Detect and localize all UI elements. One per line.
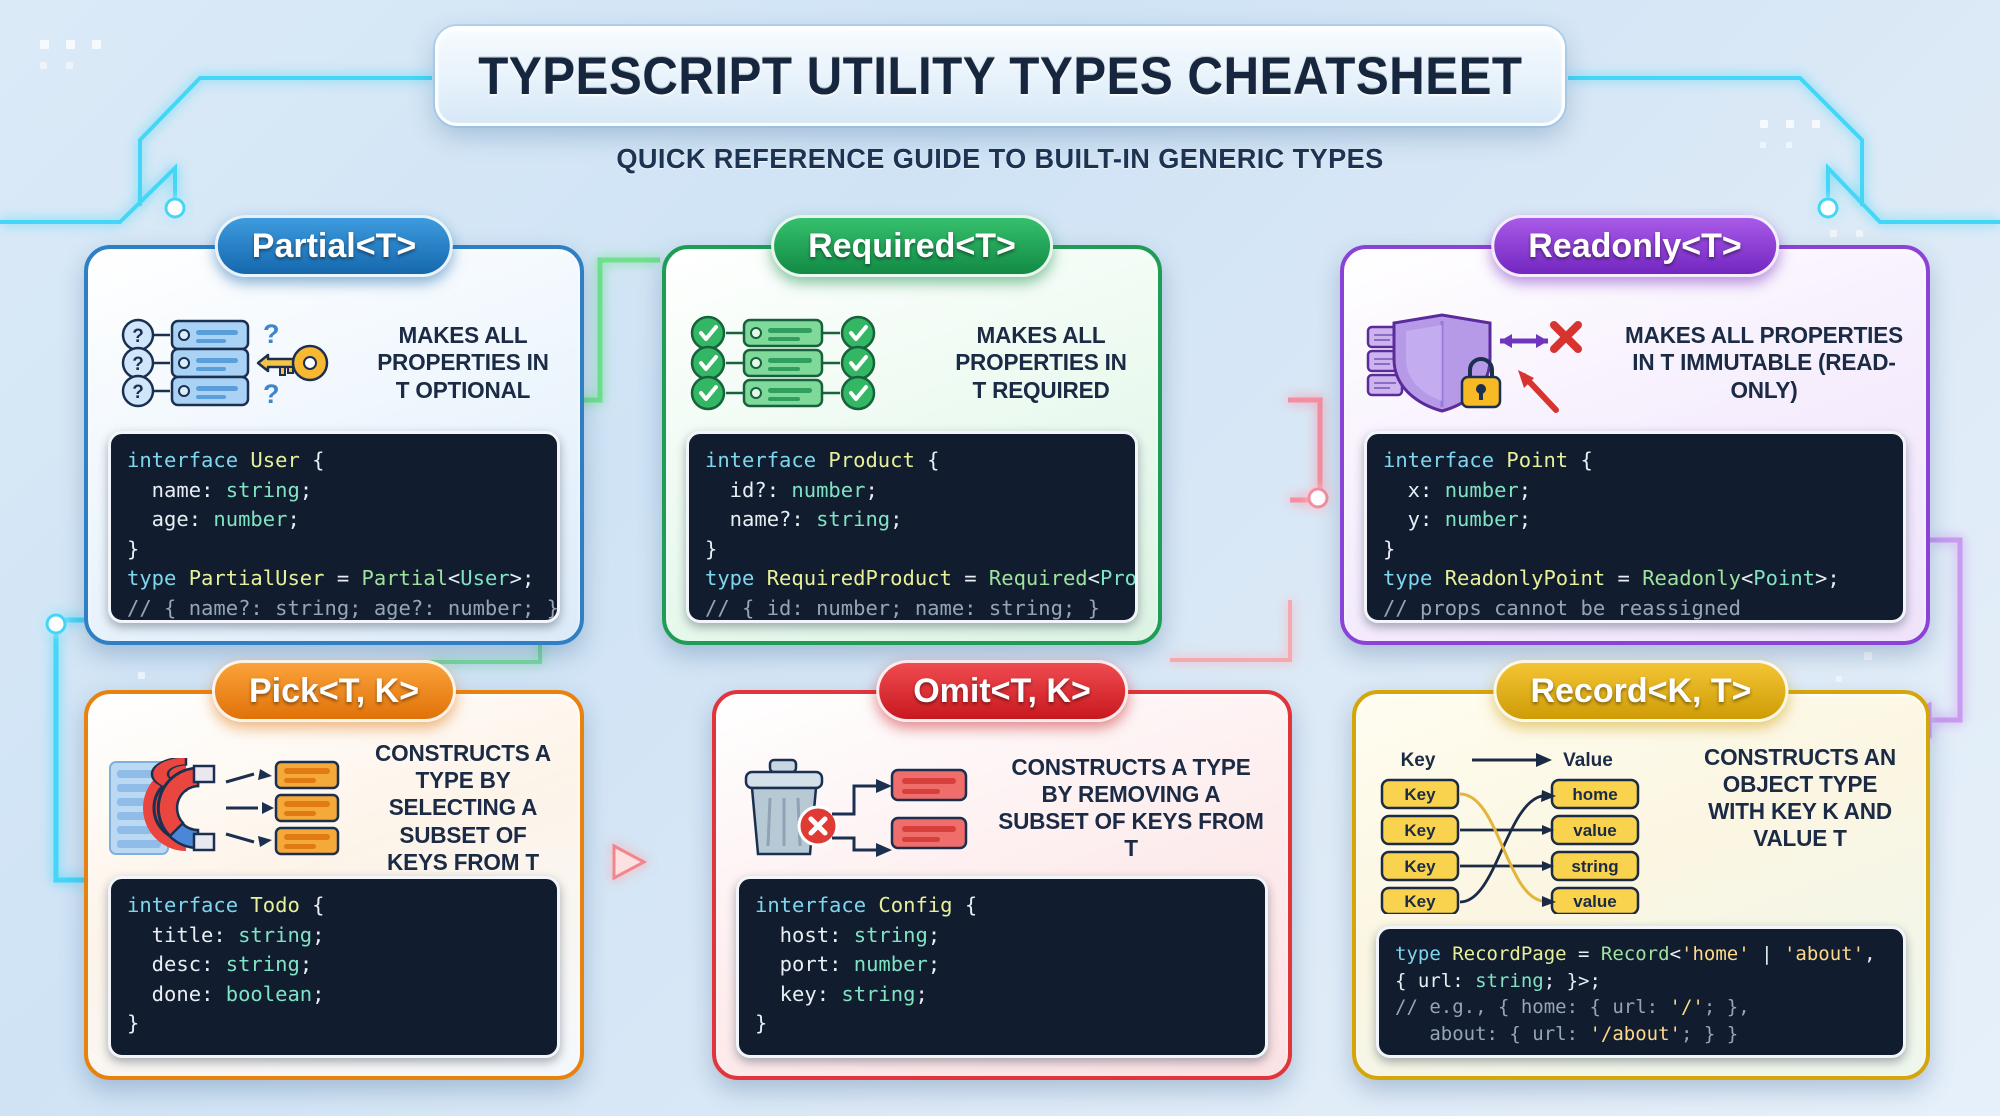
svg-text:Key: Key — [1404, 892, 1436, 911]
svg-text:Key: Key — [1404, 821, 1436, 840]
green-check-rows-icon — [686, 313, 936, 413]
card-pill-omit: Omit<T, K> — [876, 660, 1128, 722]
card-pill-record: Record<K, T> — [1493, 660, 1788, 722]
code-block-omit: interface Config { host: string; port: n… — [736, 876, 1268, 1058]
svg-text:?: ? — [132, 326, 144, 347]
svg-text:Key: Key — [1404, 857, 1436, 876]
svg-text:?: ? — [263, 319, 280, 349]
card-description-readonly: MAKES ALL PROPERTIES IN T IMMUTABLE (REA… — [1625, 322, 1903, 403]
page-title: TYPESCRIPT UTILITY TYPES CHEATSHEET — [478, 46, 1522, 107]
card-pill-pick: Pick<T, K> — [212, 660, 456, 722]
svg-text:value: value — [1573, 892, 1616, 911]
svg-text:?: ? — [132, 382, 144, 403]
card-description-partial: MAKES ALL PROPERTIES IN T OPTIONAL — [368, 322, 558, 403]
svg-text:value: value — [1573, 821, 1616, 840]
svg-text:?: ? — [263, 379, 280, 409]
record-key-header: Key — [1401, 750, 1436, 771]
page-title-plate: TYPESCRIPT UTILITY TYPES CHEATSHEET — [435, 26, 1565, 126]
card-required[interactable]: Required<T> — [662, 245, 1162, 645]
question-rows-key-icon: ? ? ? — [108, 313, 358, 413]
code-block-readonly: interface Point { x: number; y: number; … — [1364, 431, 1906, 623]
code-block-required: interface Product { id?: number; name?: … — [686, 431, 1138, 623]
record-value-header: Value — [1563, 750, 1613, 771]
magnet-icon — [108, 758, 358, 858]
card-pick[interactable]: Pick<T, K> — [84, 690, 584, 1080]
card-partial[interactable]: Partial<T> ? ? ? — [84, 245, 584, 645]
svg-text:Key: Key — [1404, 785, 1436, 804]
svg-text:?: ? — [132, 354, 144, 375]
svg-text:home: home — [1572, 785, 1617, 804]
card-omit[interactable]: Omit<T, K> — [712, 690, 1292, 1080]
svg-text:string: string — [1571, 857, 1618, 876]
card-description-record: CONSTRUCTS AN OBJECT TYPE WITH KEY K AND… — [1696, 744, 1904, 853]
card-description-pick: CONSTRUCTS A TYPE BY SELECTING A SUBSET … — [368, 740, 558, 876]
key-value-map-icon: Key Value KeyKeyKeyKey — [1376, 744, 1686, 914]
shield-lock-icon — [1364, 313, 1614, 413]
trash-can-icon — [736, 758, 986, 858]
code-block-pick: interface Todo { title: string; desc: st… — [108, 876, 560, 1058]
code-block-record: type RecordPage = Record<'home' | 'about… — [1376, 926, 1906, 1058]
card-pill-readonly: Readonly<T> — [1491, 215, 1779, 277]
page-subtitle: QUICK REFERENCE GUIDE TO BUILT-IN GENERI… — [30, 143, 1970, 175]
card-description-omit: CONSTRUCTS A TYPE BY REMOVING A SUBSET O… — [997, 754, 1266, 863]
code-block-partial: interface User { name: string; age: numb… — [108, 431, 560, 623]
card-readonly[interactable]: Readonly<T> — [1340, 245, 1930, 645]
card-description-required: MAKES ALL PROPERTIES IN T REQUIRED — [946, 322, 1136, 403]
card-pill-partial: Partial<T> — [215, 215, 453, 277]
card-record[interactable]: Record<K, T> Key Value KeyKeyKeyKey — [1352, 690, 1930, 1080]
card-pill-required: Required<T> — [771, 215, 1053, 277]
